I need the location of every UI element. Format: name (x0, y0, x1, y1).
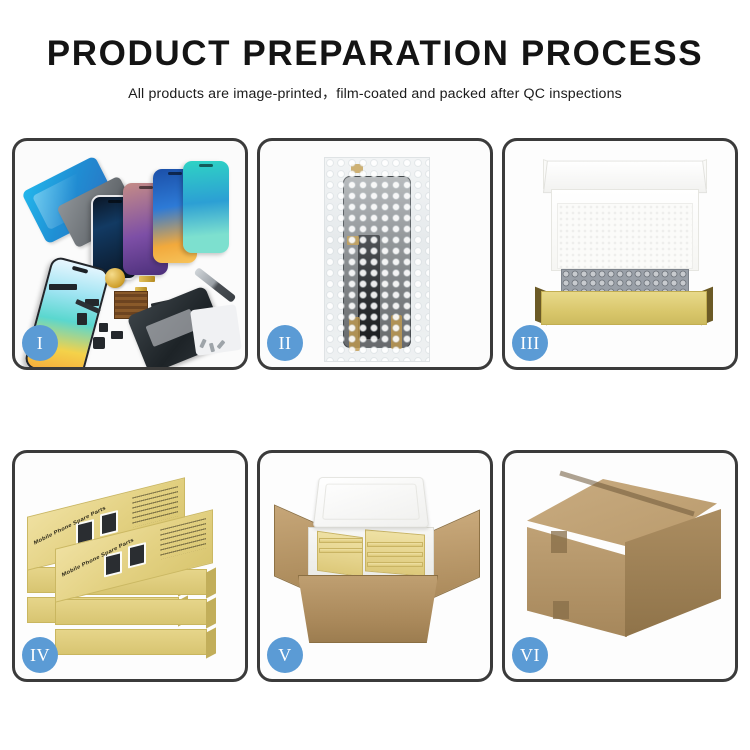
chip-icon (77, 313, 87, 325)
yellow-box-body (541, 291, 707, 325)
bubble-wrap-bag (324, 157, 430, 362)
notch-icon (139, 186, 153, 189)
stacked-box (55, 599, 207, 625)
gold-coin-component-icon (105, 268, 125, 288)
box-label-text: Mobile Phone Spare Parts (61, 537, 134, 578)
step-panel-2[interactable]: II (257, 138, 493, 370)
notch-icon (199, 164, 213, 167)
chip-icon (99, 323, 108, 332)
box-side (206, 597, 216, 628)
notch-icon (168, 172, 182, 175)
step-panel-3[interactable]: III (502, 138, 738, 370)
process-steps-grid: I II (12, 138, 738, 682)
stacked-box (55, 629, 207, 655)
box-text-lines (160, 518, 206, 559)
carton-front-face (527, 527, 627, 637)
gold-contact-icon (139, 276, 155, 282)
notch-icon (108, 200, 122, 203)
box-side (206, 627, 216, 658)
step-panel-1[interactable]: I (12, 138, 248, 370)
step-badge-4: IV (22, 637, 58, 673)
foam-sheet-icon (557, 203, 693, 269)
small-component-bar-icon (49, 284, 77, 290)
yellow-box-item (367, 552, 423, 557)
yellow-box-item (319, 538, 363, 543)
printed-box-stack: Mobile Phone Spare Parts Mobile Phone Sp… (27, 471, 237, 661)
phone-display-fan (91, 161, 241, 281)
product-preparation-process-page: PRODUCT PREPARATION PROCESS All products… (0, 0, 750, 750)
screw-icon (217, 340, 226, 349)
step-badge-6: VI (512, 637, 548, 673)
step-badge-2: II (267, 325, 303, 361)
step-badge-5: V (267, 637, 303, 673)
speaker-module-icon (93, 337, 105, 349)
box-side (206, 567, 216, 598)
page-header: PRODUCT PREPARATION PROCESS All products… (0, 0, 750, 103)
product-window-icon (128, 542, 146, 568)
page-title: PRODUCT PREPARATION PROCESS (0, 34, 750, 73)
bubble-texture (325, 158, 429, 361)
foam-lid-icon (313, 477, 429, 527)
screws-group (201, 339, 227, 353)
carton-tape-icon (551, 531, 567, 553)
chip-icon (111, 331, 123, 339)
step-panel-5[interactable]: V (257, 450, 493, 682)
step-panel-4[interactable]: Mobile Phone Spare Parts Mobile Phone Sp… (12, 450, 248, 682)
step-badge-1: I (22, 325, 58, 361)
phone-display-icon (183, 161, 229, 253)
screw-icon (199, 339, 206, 349)
carton-body (298, 575, 438, 643)
yellow-box-item (319, 548, 363, 553)
notch-icon (72, 266, 88, 274)
step-badge-3: III (512, 325, 548, 361)
foam-tray-icon (308, 527, 434, 581)
screw-icon (209, 343, 215, 353)
step-panel-6[interactable]: VI (502, 450, 738, 682)
yellow-box-item (367, 562, 423, 567)
carton-tape-icon (553, 601, 569, 619)
yellow-box-item (367, 542, 423, 547)
page-subtitle: All products are image-printed，film-coat… (0, 83, 750, 103)
